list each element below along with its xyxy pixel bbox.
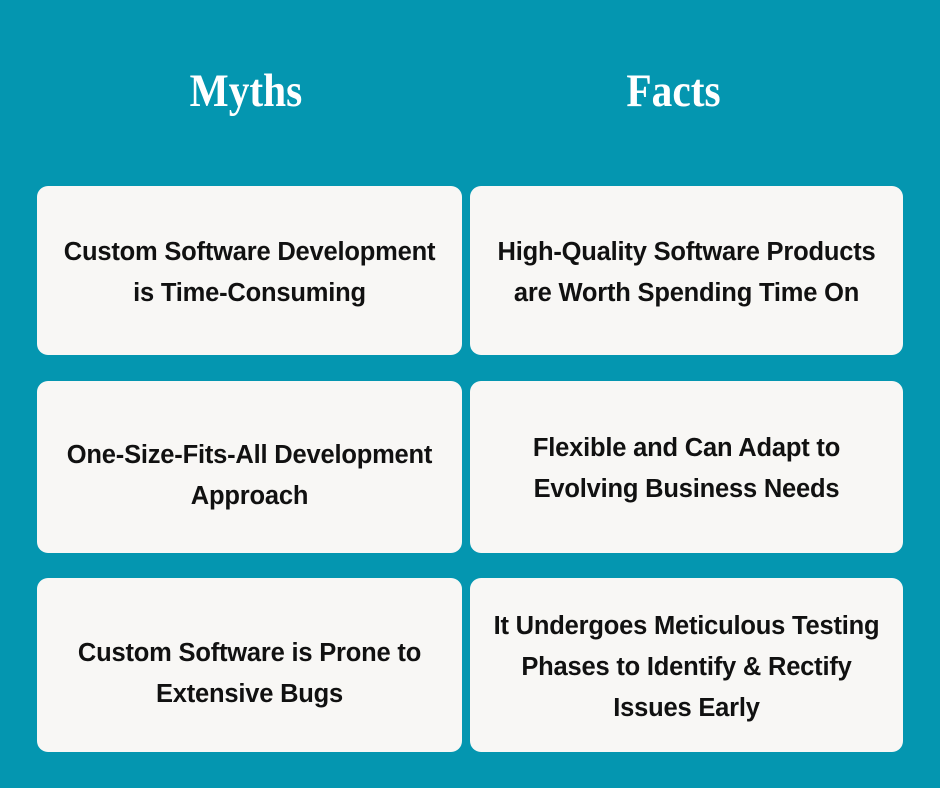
fact-card-1-text: High-Quality Software Products are Worth… (470, 232, 903, 314)
myths-vs-facts-infographic: Myths Facts Custom Software Development … (0, 0, 940, 788)
column-headers: Myths Facts (0, 56, 940, 126)
myth-card-2: One-Size-Fits-All Development Approach (37, 381, 462, 553)
fact-card-3: It Undergoes Meticulous Testing Phases t… (470, 578, 903, 752)
column-header-myths-label: Myths (190, 68, 303, 115)
fact-card-2: Flexible and Can Adapt to Evolving Busin… (470, 381, 903, 553)
column-header-facts: Facts (470, 56, 878, 126)
myth-card-2-text: One-Size-Fits-All Development Approach (37, 435, 462, 517)
myth-card-1-text: Custom Software Development is Time-Cons… (37, 232, 462, 314)
myth-card-1: Custom Software Development is Time-Cons… (37, 186, 462, 355)
fact-card-2-text: Flexible and Can Adapt to Evolving Busin… (470, 428, 903, 510)
fact-card-3-text: It Undergoes Meticulous Testing Phases t… (470, 606, 903, 729)
myth-card-3: Custom Software is Prone to Extensive Bu… (37, 578, 462, 752)
column-header-myths: Myths (37, 56, 455, 126)
fact-card-1: High-Quality Software Products are Worth… (470, 186, 903, 355)
column-header-facts-label: Facts (627, 68, 721, 115)
myth-card-3-text: Custom Software is Prone to Extensive Bu… (37, 633, 462, 715)
